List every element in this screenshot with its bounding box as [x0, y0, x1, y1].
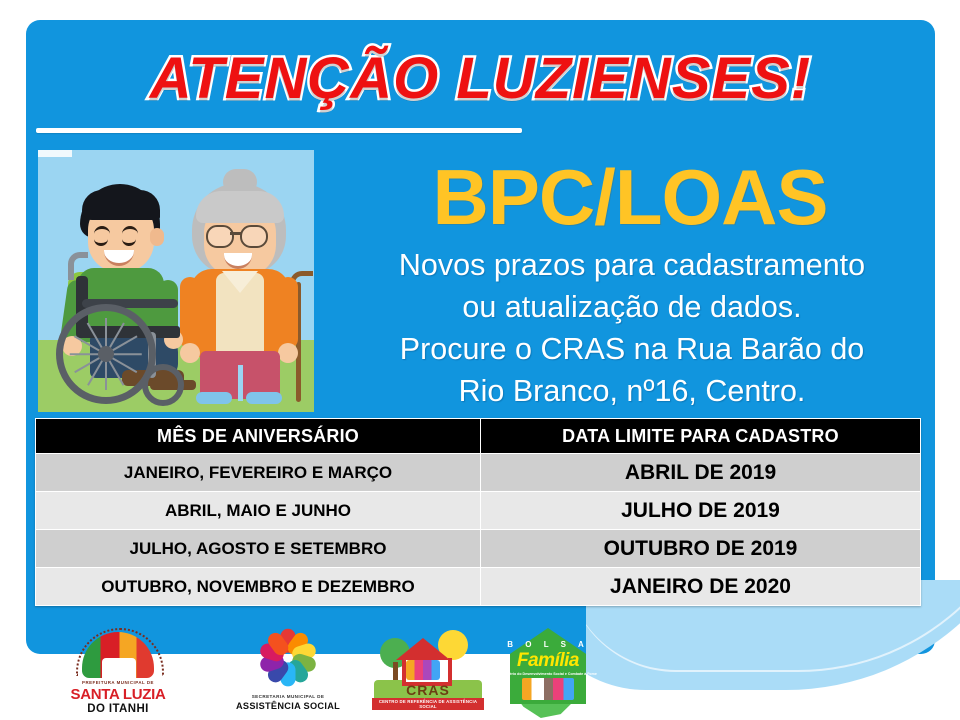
wheelchair-front-caster [142, 364, 184, 406]
wheelchair-rear-wheel [56, 304, 156, 404]
table-row: OUTUBRO, NOVEMBRO E DEZEMBRO JANEIRO DE … [36, 568, 921, 606]
table-row: JULHO, AGOSTO E SETEMBRO OUTUBRO DE 2019 [36, 530, 921, 568]
logo-prefeitura-santa-luzia-do-itanhi: PREFEITURA MUNICIPAL DE SANTA LUZIA DO I… [62, 628, 174, 720]
cell-month: JANEIRO, FEVEREIRO E MARÇO [36, 454, 481, 492]
cell-month: ABRIL, MAIO E JUNHO [36, 492, 481, 530]
lead-paragraph: Novos prazos para cadastramento ou atual… [326, 244, 938, 412]
cell-deadline: JANEIRO DE 2020 [481, 568, 921, 606]
logo-cras: CRAS CENTRO DE REFERÊNCIA DE ASSISTÊNCIA… [372, 628, 484, 720]
logo-line-1: PREFEITURA MUNICIPAL DE [62, 680, 174, 685]
woman-hand-right [278, 343, 298, 363]
title-divider-rule [36, 128, 522, 133]
cell-month: JULHO, AGOSTO E SETEMBRO [36, 530, 481, 568]
woman-leg-gap [238, 365, 243, 401]
table-header-row: MÊS DE ANIVERSÁRIO DATA LIMITE PARA CADA… [36, 419, 921, 454]
cell-deadline: JULHO DE 2019 [481, 492, 921, 530]
logo-line-3: DO ITANHI [62, 703, 174, 715]
page-title: ATENÇÃO LUZIENSES! [26, 44, 935, 114]
logo-line-2: ASSISTÊNCIA SOCIAL [232, 701, 344, 711]
logo-line-2: CRAS [372, 682, 484, 698]
cell-deadline: OUTUBRO DE 2019 [481, 530, 921, 568]
family-figures-icon [406, 660, 440, 680]
column-header-month: MÊS DE ANIVERSÁRIO [36, 419, 481, 454]
logo-strip: PREFEITURA MUNICIPAL DE SANTA LUZIA DO I… [0, 628, 960, 720]
lead-line-2: ou atualização de dados. [326, 286, 938, 328]
lead-line-3: Procure o CRAS na Rua Barão do [326, 328, 938, 370]
illustration-corner-tag [38, 150, 72, 157]
eyeglass-left-icon [206, 225, 234, 248]
logo-people-circle-icon [258, 630, 318, 690]
logo-bolsa-familia: B O L S A Família Ministério do Desenvol… [492, 628, 604, 720]
logo-line-1: B O L S A [492, 640, 604, 649]
logo-line-1: SECRETARIA MUNICIPAL DE [232, 694, 344, 699]
family-figures-icon [522, 678, 574, 700]
lead-line-4: Rio Branco, nº16, Centro. [326, 370, 938, 412]
eyeglass-right-icon [240, 225, 268, 248]
logo-line-2: Família [492, 650, 604, 672]
logo-line-3: Ministério do Desenvolvimento Social e C… [492, 672, 604, 676]
eyeglass-bridge [230, 232, 242, 235]
cell-deadline: ABRIL DE 2019 [481, 454, 921, 492]
man-ear [150, 228, 164, 246]
poster-canvas: ATENÇÃO LUZIENSES! [0, 0, 960, 720]
table-row: JANEIRO, FEVEREIRO E MARÇO ABRIL DE 2019 [36, 454, 921, 492]
logo-line-3: CENTRO DE REFERÊNCIA DE ASSISTÊNCIA SOCI… [372, 698, 484, 710]
tree-trunk [393, 662, 398, 680]
woman-shoe-right [246, 392, 282, 404]
table-row: ABRIL, MAIO E JUNHO JULHO DE 2019 [36, 492, 921, 530]
cell-month: OUTUBRO, NOVEMBRO E DEZEMBRO [36, 568, 481, 606]
man-hair-top [82, 190, 160, 220]
column-header-deadline: DATA LIMITE PARA CADASTRO [481, 419, 921, 454]
deadline-schedule-table: MÊS DE ANIVERSÁRIO DATA LIMITE PARA CADA… [35, 418, 921, 606]
program-title: BPC/LOAS [330, 152, 930, 242]
logo-assistencia-social: SECRETARIA MUNICIPAL DE ASSISTÊNCIA SOCI… [232, 628, 344, 720]
elderly-couple-wheelchair-illustration [38, 150, 314, 412]
man-eyebrow-right [122, 226, 138, 235]
logo-line-2: SANTA LUZIA [62, 686, 174, 703]
logo-people-icon [102, 658, 136, 678]
man-eyebrow-left [94, 226, 110, 235]
lead-line-1: Novos prazos para cadastramento [326, 244, 938, 286]
